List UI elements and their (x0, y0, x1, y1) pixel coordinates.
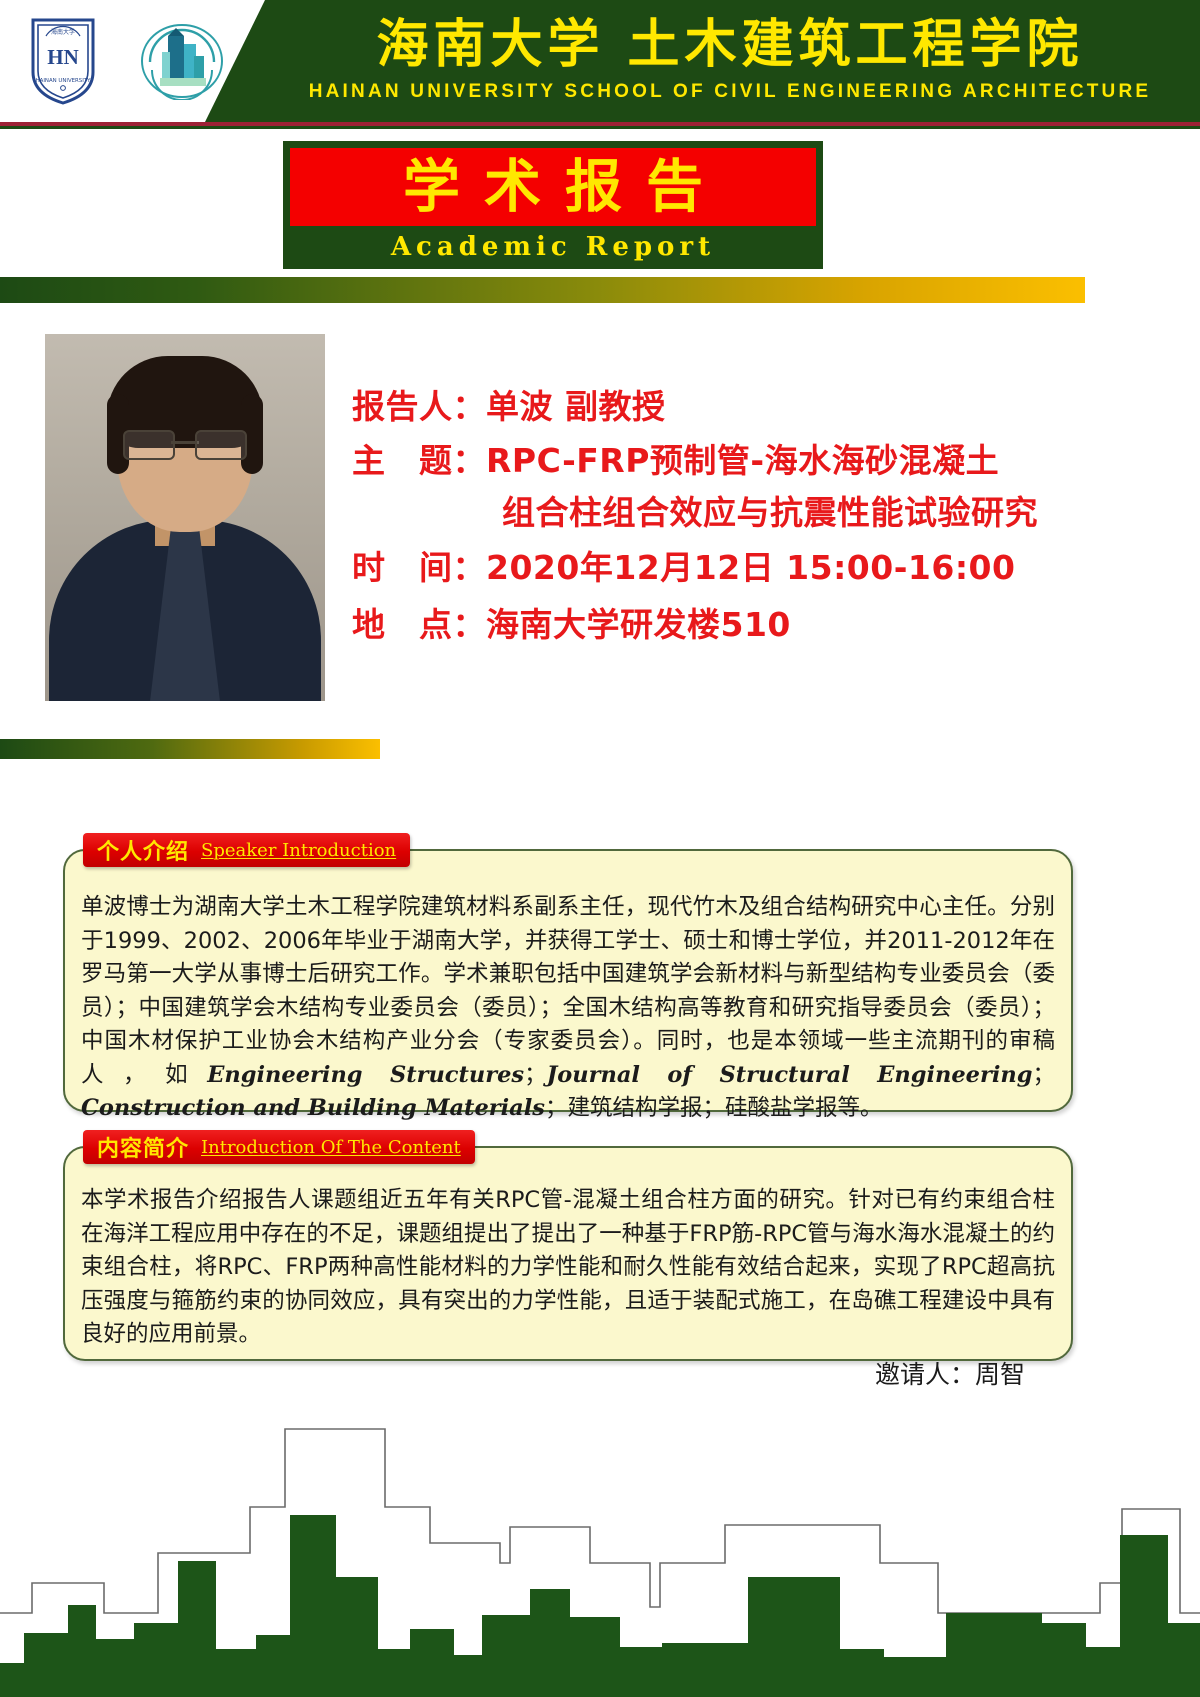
svg-text:HAINAN UNIVERSITY: HAINAN UNIVERSITY (36, 78, 92, 84)
speaker-introduction-text: 单波博士为湖南大学土木工程学院建筑材料系副系主任，现代竹木及组合结构研究中心主任… (65, 851, 1071, 1136)
school-of-civil-engineering-logo-icon (140, 22, 224, 100)
speaker-label-place: 地 点： (352, 596, 486, 653)
content-introduction-box: 内容简介 Introduction Of The Content 本学术报告介绍… (63, 1146, 1073, 1361)
speaker-value-name: 单波 副教授 (486, 387, 666, 426)
title-text-cn: 学术报告 (379, 154, 727, 220)
speaker-introduction-box: 个人介绍 Speaker Introduction 单波博士为湖南大学土木工程学… (63, 849, 1073, 1112)
speaker-row-time: 时 间：2020年12月12日 15:00-16:00 (352, 539, 1162, 596)
speaker-row-place: 地 点：海南大学研发楼510 (352, 596, 1162, 653)
title-text-en: Academic Report (290, 226, 816, 268)
speaker-value-topic: RPC-FRP预制管-海水海砂混凝土 (486, 441, 999, 480)
header-university-cn: 海南大学 土木建筑工程学院 (290, 14, 1170, 76)
poster: HN 海南大学 HAINAN UNIVERSITY 海南大学 (0, 0, 1200, 1697)
header-green-rule (0, 126, 1200, 129)
city-skyline-graphic (0, 1377, 1200, 1697)
speaker-label-time: 时 间： (352, 539, 486, 596)
header-titles: 海南大学 土木建筑工程学院 HAINAN UNIVERSITY SCHOOL O… (290, 14, 1170, 106)
speaker-label-topic: 主 题： (352, 435, 486, 487)
speaker-value-topic-line2: 组合柱组合效应与抗震性能试验研究 (352, 487, 1162, 539)
speaker-value-time: 2020年12月12日 15:00-16:00 (486, 548, 1015, 587)
speaker-info-block: 报告人：单波 副教授 主 题：RPC-FRP预制管-海水海砂混凝土 组合柱组合效… (352, 378, 1162, 653)
speaker-photo (45, 334, 325, 701)
gradient-divider-top (0, 277, 1085, 303)
svg-text:HN: HN (47, 45, 79, 69)
speaker-row-topic: 主 题：RPC-FRP预制管-海水海砂混凝土 组合柱组合效应与抗震性能试验研究 (352, 435, 1162, 539)
page-header: HN 海南大学 HAINAN UNIVERSITY 海南大学 (0, 0, 1200, 122)
gradient-divider-middle (0, 739, 380, 759)
content-introduction-text: 本学术报告介绍报告人课题组近五年有关RPC管-混凝土组合柱方面的研究。针对已有约… (65, 1148, 1071, 1362)
header-university-en: HAINAN UNIVERSITY SCHOOL OF CIVIL ENGINE… (290, 78, 1170, 106)
speaker-label-name: 报告人： (352, 378, 486, 435)
glasses-icon (123, 430, 247, 456)
speaker-value-place: 海南大学研发楼510 (486, 605, 791, 644)
hainan-university-logo-icon: HN 海南大学 HAINAN UNIVERSITY (28, 14, 98, 106)
title-red-plate: 学术报告 (290, 148, 816, 226)
svg-text:海南大学: 海南大学 (51, 28, 75, 36)
academic-report-title-banner: 学术报告 Academic Report (283, 141, 823, 269)
speaker-row-name: 报告人：单波 副教授 (352, 378, 1162, 435)
